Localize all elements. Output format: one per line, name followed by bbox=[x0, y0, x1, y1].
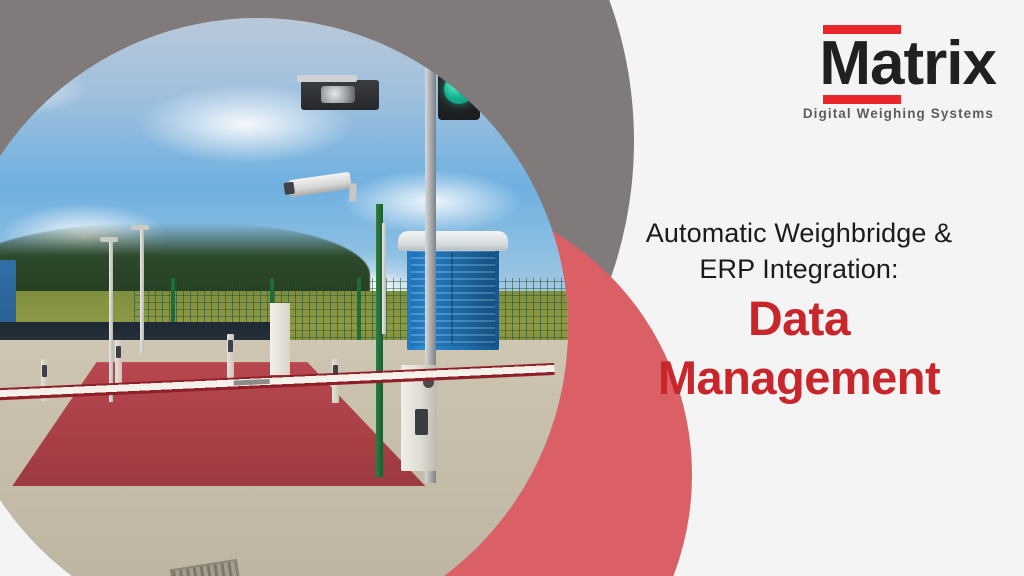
blue-portable-cabin bbox=[407, 244, 499, 350]
bollard-cap bbox=[228, 340, 233, 352]
weighbridge-photo bbox=[0, 18, 568, 576]
lamp-pole bbox=[109, 241, 113, 402]
photo-scene bbox=[0, 18, 568, 576]
headline-line-1: Automatic Weighbridge & bbox=[604, 216, 994, 252]
anpr-camera-housing bbox=[301, 80, 379, 110]
matrix-logo: Matrix Digital Weighing Systems bbox=[803, 24, 996, 121]
logo-top-bar bbox=[823, 25, 901, 34]
headline-emphasis-2: Management bbox=[604, 353, 994, 404]
logo-tagline: Digital Weighing Systems bbox=[803, 106, 994, 121]
cctv-mount-arm bbox=[349, 183, 357, 201]
logo-stack: Matrix bbox=[819, 24, 996, 105]
traffic-light-green-lamp-icon bbox=[444, 74, 474, 104]
cabin-door-line bbox=[451, 252, 453, 344]
bollard-cap bbox=[42, 365, 47, 377]
lamp-pole bbox=[140, 229, 144, 353]
headline-block: Automatic Weighbridge & ERP Integration:… bbox=[604, 216, 994, 404]
bollard bbox=[115, 340, 122, 386]
lamp-head bbox=[100, 237, 118, 242]
barrier-reflector bbox=[234, 379, 270, 386]
traffic-light bbox=[438, 58, 480, 120]
traffic-light-hood bbox=[434, 53, 484, 65]
headline-line-2: ERP Integration: bbox=[604, 252, 994, 288]
lamp-head bbox=[131, 225, 149, 230]
cabin-ribs bbox=[411, 250, 495, 346]
bollard-cap bbox=[116, 346, 121, 358]
bollard bbox=[227, 334, 234, 378]
service-kiosk bbox=[270, 303, 290, 375]
camera-glass bbox=[321, 86, 355, 103]
camera-visor bbox=[297, 75, 357, 82]
cctv-lens-icon bbox=[283, 182, 295, 195]
slide-canvas: Matrix Digital Weighing Systems Automati… bbox=[0, 0, 1024, 576]
logo-wordmark: Matrix bbox=[819, 24, 996, 105]
logo-bottom-bar bbox=[823, 95, 901, 104]
barrier-control-panel bbox=[415, 409, 428, 435]
headline-emphasis-1: Data bbox=[604, 294, 994, 346]
cabin-roof bbox=[398, 231, 508, 251]
lamp-pole bbox=[382, 223, 386, 335]
